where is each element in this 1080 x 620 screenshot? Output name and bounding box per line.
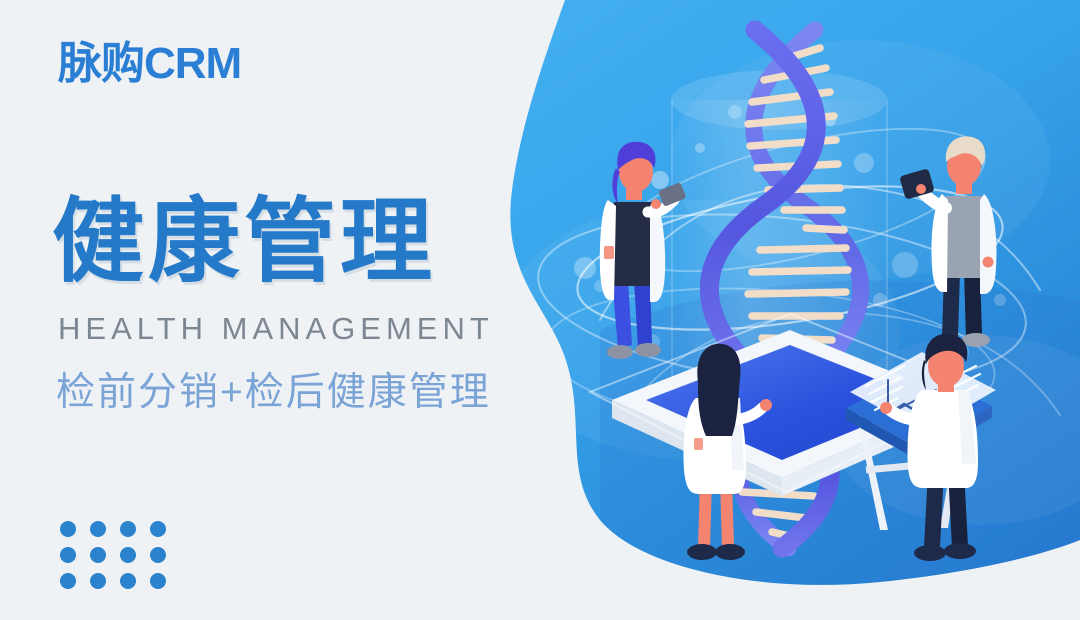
dot-grid-decoration	[60, 521, 166, 589]
grid-dot	[150, 547, 166, 563]
page-title: 健康管理	[52, 196, 436, 288]
grid-dot	[120, 521, 136, 537]
subtitle-chinese: 检前分销+检后健康管理	[56, 373, 491, 412]
grid-dot	[60, 547, 76, 563]
grid-dot	[120, 547, 136, 563]
brand-logo: 脉购CRM	[58, 42, 241, 86]
grid-dot	[150, 573, 166, 589]
health-management-banner: 脉购CRM 健康管理 HEALTH MANAGEMENT 检前分销+检后健康管理	[0, 0, 1080, 620]
subtitle-english: HEALTH MANAGEMENT	[58, 313, 494, 344]
grid-dot	[150, 521, 166, 537]
grid-dot	[90, 573, 106, 589]
grid-dot	[120, 573, 136, 589]
grid-dot	[60, 521, 76, 537]
ground-shadow	[520, 540, 1080, 620]
grid-dot	[90, 521, 106, 537]
grid-dot	[90, 547, 106, 563]
grid-dot	[60, 573, 76, 589]
text-column: 脉购CRM 健康管理 HEALTH MANAGEMENT 检前分销+检后健康管理	[0, 0, 560, 620]
